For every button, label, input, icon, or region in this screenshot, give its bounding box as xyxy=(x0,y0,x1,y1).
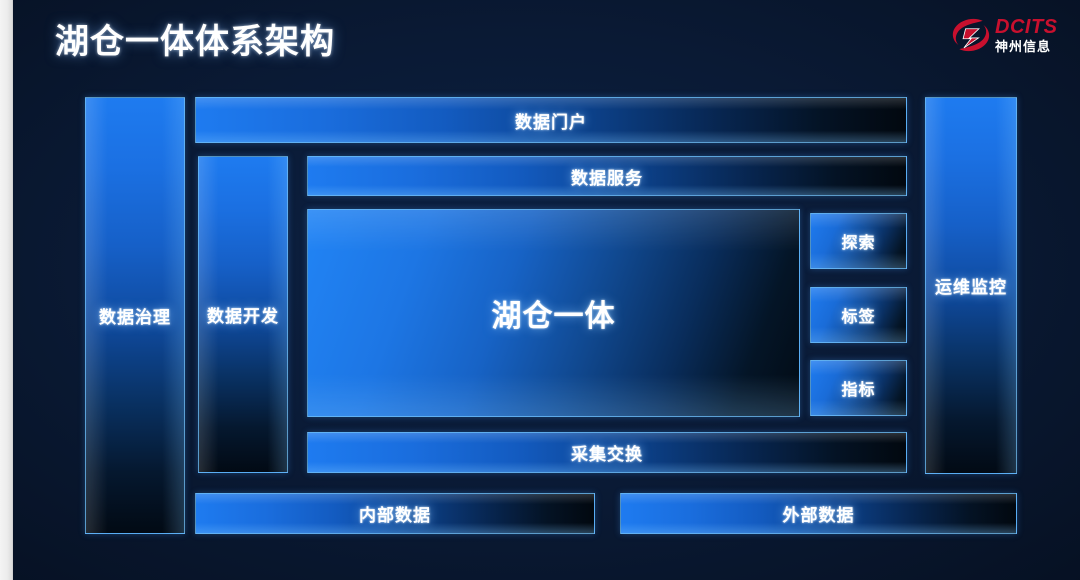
architecture-slide: 湖仓一体体系架构 DCITS 神州信息 数据治理 数据开发 数据门户 数据服务 … xyxy=(0,0,1080,580)
block-label: 数据服务 xyxy=(571,164,643,189)
block-tag[interactable]: 标签 xyxy=(810,287,907,343)
logo-wordmark: DCITS 神州信息 xyxy=(995,17,1058,53)
block-data-portal[interactable]: 数据门户 xyxy=(195,97,907,143)
left-edge-strip xyxy=(0,0,13,580)
block-external-data[interactable]: 外部数据 xyxy=(620,493,1017,534)
block-data-development[interactable]: 数据开发 xyxy=(198,156,288,473)
dcits-swirl-logo-icon xyxy=(950,15,992,55)
page-title: 湖仓一体体系架构 xyxy=(55,14,335,63)
block-label: 湖仓一体 xyxy=(492,291,616,335)
block-label: 数据门户 xyxy=(515,108,587,133)
block-internal-data[interactable]: 内部数据 xyxy=(195,493,595,534)
block-explore[interactable]: 探索 xyxy=(810,213,907,269)
logo-chinese-text: 神州信息 xyxy=(995,40,1058,53)
block-metric[interactable]: 指标 xyxy=(810,360,907,416)
block-label: 探索 xyxy=(841,229,875,253)
logo-english-text: DCITS xyxy=(995,17,1058,37)
block-label: 内部数据 xyxy=(359,501,431,526)
block-label: 采集交换 xyxy=(571,440,643,465)
block-data-service[interactable]: 数据服务 xyxy=(307,156,907,196)
block-label: 指标 xyxy=(841,376,875,400)
block-lakehouse-core[interactable]: 湖仓一体 xyxy=(307,209,800,417)
block-collect-exchange[interactable]: 采集交换 xyxy=(307,432,907,473)
block-label: 数据治理 xyxy=(99,303,171,328)
block-label: 外部数据 xyxy=(783,501,855,526)
brand-logo: DCITS 神州信息 xyxy=(950,11,1062,59)
block-ops-monitoring[interactable]: 运维监控 xyxy=(925,97,1017,474)
block-label: 标签 xyxy=(841,303,875,327)
block-data-governance[interactable]: 数据治理 xyxy=(85,97,185,534)
block-label: 数据开发 xyxy=(207,302,279,327)
block-label: 运维监控 xyxy=(935,273,1007,298)
